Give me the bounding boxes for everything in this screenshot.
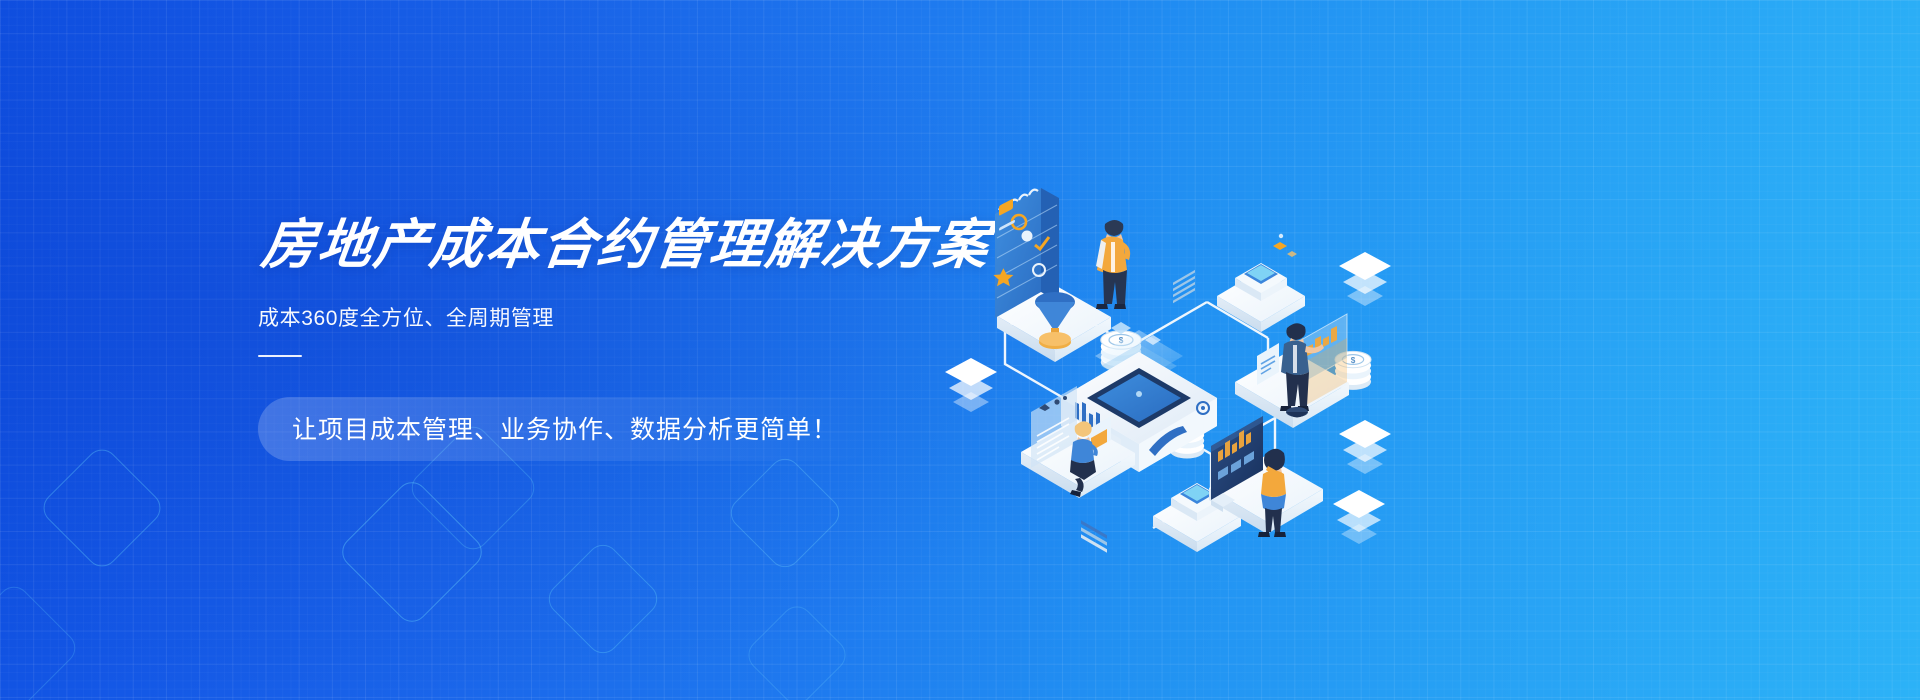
- diamond-outline-icon: [742, 600, 852, 700]
- floating-card-stack-lower-right: [1333, 490, 1385, 544]
- hero-subtitle: 成本360度全方位、全周期管理: [258, 304, 1018, 333]
- page-title: 房地产成本合约管理解决方案: [258, 214, 1026, 278]
- presentation-platform-group: [1235, 314, 1349, 428]
- diamond-outline-icon: [336, 476, 489, 629]
- floating-card-stack-left: [945, 358, 997, 412]
- cube-node-top: [1217, 234, 1305, 332]
- diamond-outline-icon: [37, 443, 167, 573]
- title-divider: [258, 355, 302, 357]
- hero-illustration: $ $: [935, 150, 1405, 580]
- standing-man-orange: [1096, 220, 1130, 309]
- hero-tagline: 让项目成本管理、业务协作、数据分析更简单！: [258, 397, 872, 461]
- hero-banner: 房地产成本合约管理解决方案 成本360度全方位、全周期管理 让项目成本管理、业务…: [0, 0, 1920, 700]
- isometric-network-graphic: $ $: [935, 150, 1405, 580]
- hero-text-block: 房地产成本合约管理解决方案 成本360度全方位、全周期管理 让项目成本管理、业务…: [258, 214, 1018, 461]
- svg-text:$: $: [1351, 356, 1356, 365]
- diamond-outline-icon: [724, 452, 846, 574]
- floating-card-stack-bottom: [1339, 420, 1391, 474]
- diamond-outline-icon: [0, 580, 82, 700]
- floating-card-stack-right: [1339, 252, 1391, 306]
- diamond-outline-icon: [542, 538, 664, 660]
